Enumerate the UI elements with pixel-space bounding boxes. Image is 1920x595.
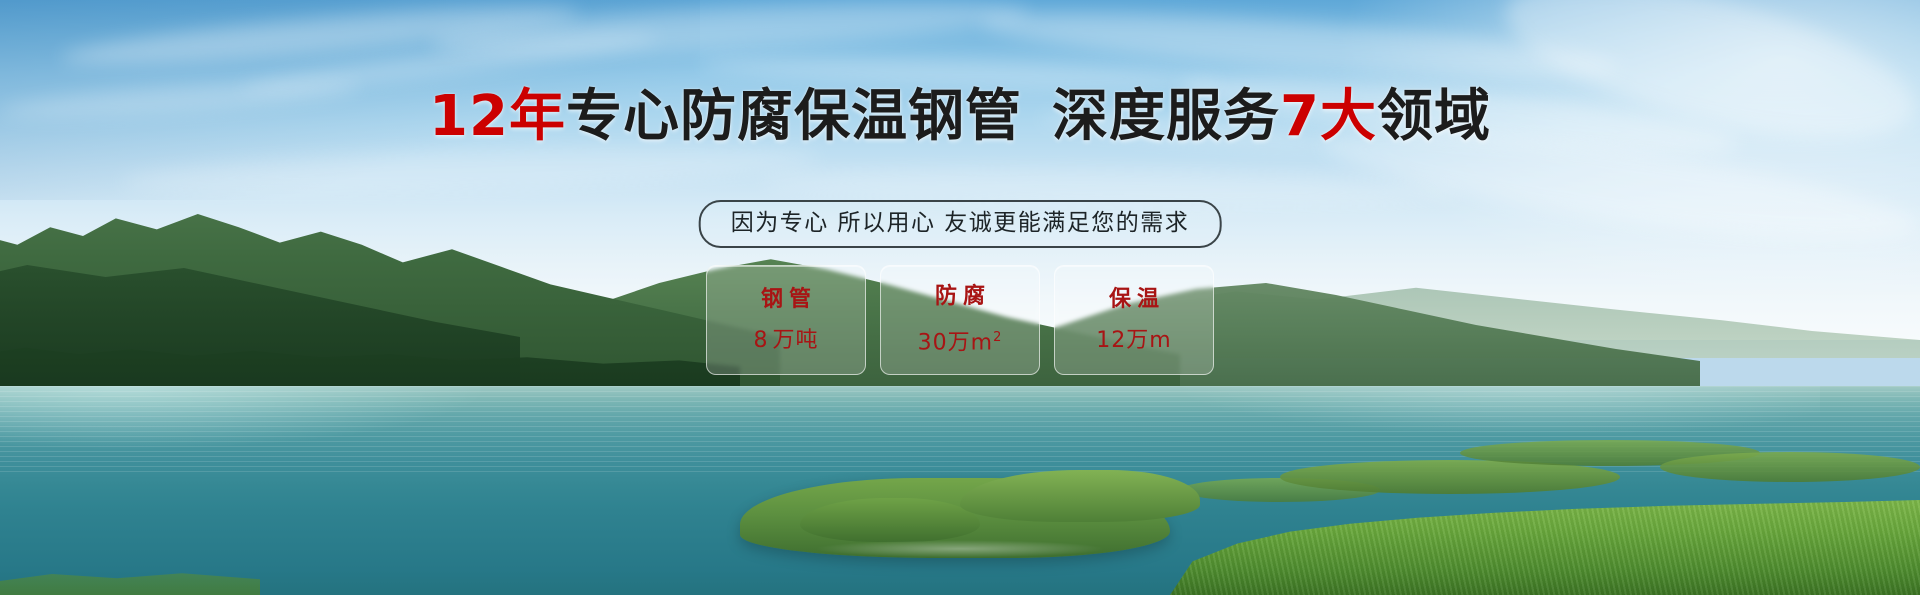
stat-card-title: 防腐 — [929, 282, 991, 312]
stat-unit: 万吨 — [772, 328, 818, 353]
banner-subtitle-pill: 因为专心 所以用心 友诚更能满足您的需求 — [699, 200, 1222, 248]
headline-service: 深度服务 — [1052, 84, 1280, 149]
stat-card-anticorrosion: 防腐 30万m2 — [880, 265, 1040, 375]
stat-card-steel-pipe: 钢管 8万吨 — [706, 265, 866, 375]
stat-card-value: 8万吨 — [753, 327, 818, 355]
stat-number: 12 — [1096, 328, 1126, 353]
stat-card-group: 钢管 8万吨 防腐 30万m2 保温 12万m — [706, 265, 1214, 375]
stat-unit: 万m — [1126, 328, 1171, 353]
grass-island-front — [800, 498, 980, 542]
headline-main: 专心防腐保温钢管 — [566, 84, 1022, 149]
headline-years: 12年 — [429, 84, 566, 149]
stat-number: 8 — [753, 328, 768, 353]
headline-seven: 7大 — [1280, 84, 1377, 149]
headline-fields: 领域 — [1377, 84, 1491, 149]
stat-card-title: 钢管 — [755, 285, 817, 315]
island-shoreline — [760, 540, 1160, 562]
stat-superscript: 2 — [993, 330, 1002, 345]
stat-number: 30 — [918, 331, 948, 356]
stat-unit: 万m — [948, 331, 993, 356]
subtitle-text: 因为专心 所以用心 友诚更能满足您的需求 — [731, 210, 1190, 236]
hero-banner: 12年专心防腐保温钢管深度服务7大领域 因为专心 所以用心 友诚更能满足您的需求… — [0, 0, 1920, 595]
marsh-patch — [1660, 452, 1920, 482]
stat-card-value: 30万m2 — [918, 324, 1003, 357]
banner-headline: 12年专心防腐保温钢管深度服务7大领域 — [0, 84, 1920, 150]
stat-card-value: 12万m — [1096, 327, 1171, 355]
stat-card-insulation: 保温 12万m — [1054, 265, 1214, 375]
stat-card-title: 保温 — [1103, 285, 1165, 315]
